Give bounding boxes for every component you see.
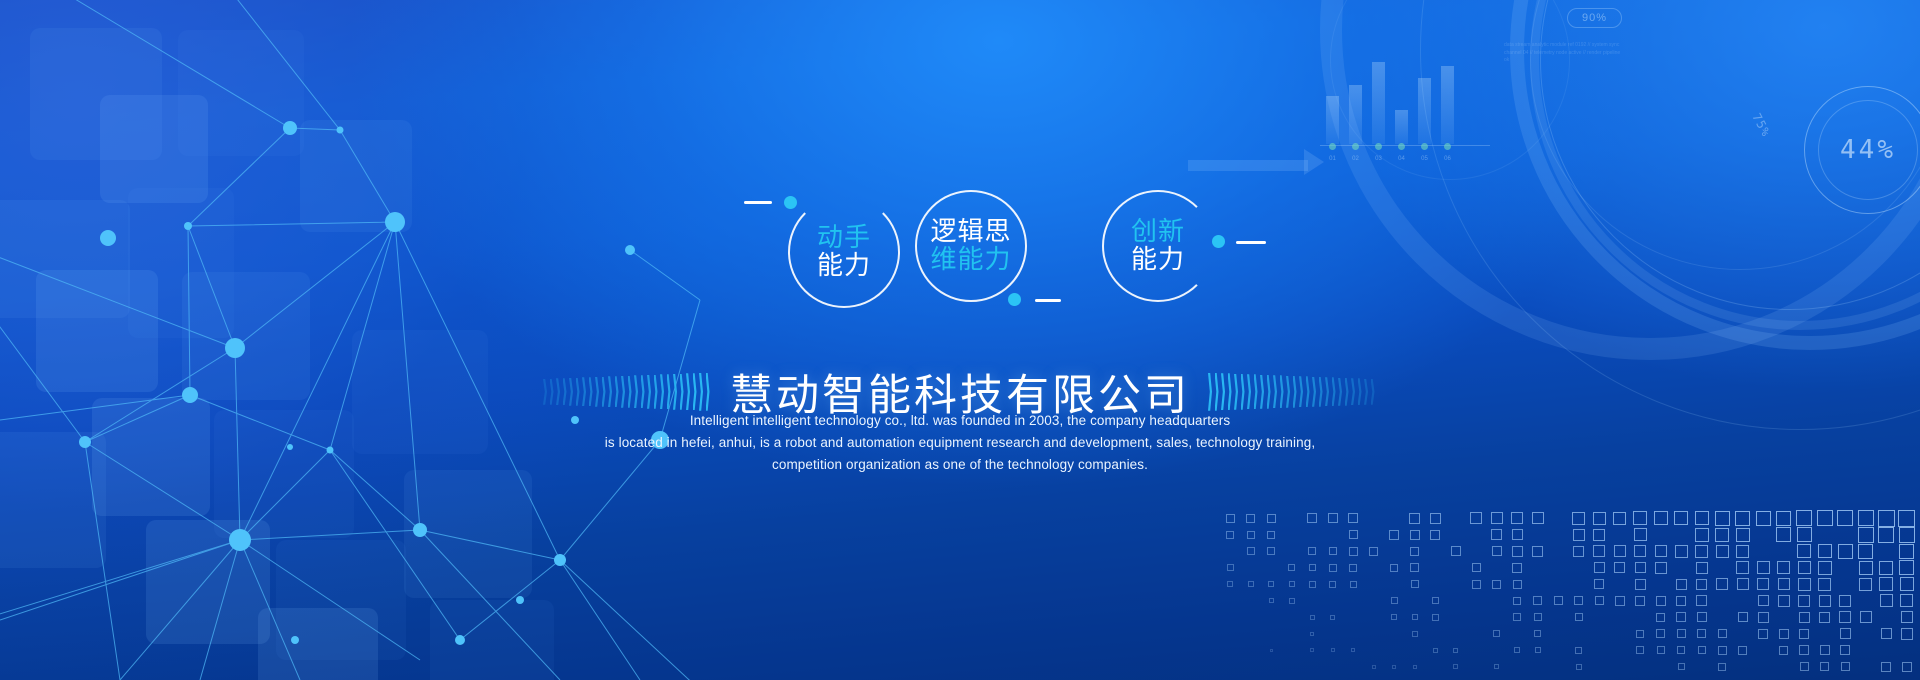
matrix-square: [1779, 646, 1788, 655]
matrix-square: [1573, 529, 1585, 541]
matrix-square: [1777, 561, 1790, 574]
matrix-square: [1270, 649, 1273, 652]
matrix-square: [1268, 581, 1274, 587]
matrix-square: [1350, 581, 1357, 588]
matrix-square: [1430, 530, 1440, 540]
matrix-square: [1716, 578, 1728, 590]
matrix-square: [1716, 545, 1729, 558]
matrix-square: [1614, 562, 1625, 573]
matrix-square: [1513, 597, 1521, 605]
chevron-bar: [1332, 377, 1336, 406]
matrix-square: [1636, 646, 1644, 654]
matrix-square: [1636, 630, 1644, 638]
matrix-square: [1798, 561, 1811, 574]
matrix-square: [1513, 580, 1522, 589]
chevron-bar: [550, 379, 554, 405]
matrix-square: [1758, 612, 1769, 623]
matrix-square: [1695, 545, 1708, 558]
matrix-square: [1776, 527, 1791, 542]
matrix-square: [1309, 564, 1316, 571]
chevron-bar: [680, 374, 684, 410]
matrix-square: [1472, 580, 1481, 589]
matrix-square: [1309, 581, 1316, 588]
matrix-square: [1839, 611, 1851, 623]
chevron-bar: [699, 373, 703, 411]
matrix-square: [1796, 510, 1812, 526]
chevron-bar: [582, 377, 586, 406]
chevron-bar: [615, 376, 619, 407]
right-accent-dash: [1236, 241, 1266, 244]
matrix-square: [1310, 615, 1315, 620]
chevron-bar: [1234, 374, 1238, 410]
matrix-square: [1879, 561, 1893, 575]
chevron-bar: [1221, 373, 1225, 410]
chevron-bar: [1215, 373, 1219, 411]
bar-chart-node-dot: [1352, 143, 1359, 150]
matrix-square: [1799, 612, 1810, 623]
matrix-square: [1859, 578, 1872, 591]
matrix-square: [1594, 562, 1605, 573]
matrix-square: [1858, 544, 1873, 559]
chevron-bar: [563, 378, 567, 405]
chevron-bar: [569, 378, 573, 406]
bar-chart-tick: 03: [1372, 156, 1385, 162]
intro-line-2: is located in hefei, anhui, is a robot a…: [0, 432, 1920, 454]
chevron-bar: [628, 376, 632, 408]
chevron-right-ornament: [1208, 369, 1377, 415]
matrix-square: [1593, 512, 1606, 525]
matrix-square: [1288, 564, 1295, 571]
matrix-square: [1392, 665, 1396, 669]
bar-chart-node-dot: [1329, 143, 1336, 150]
matrix-square: [1331, 648, 1335, 652]
bar-chart-tick: 04: [1395, 156, 1408, 162]
matrix-square: [1430, 513, 1441, 524]
chevron-bar: [1358, 378, 1362, 405]
matrix-square: [1432, 614, 1439, 621]
ability-circles: 动手 能力 逻辑思 维能力 创新 能力: [0, 0, 1920, 140]
matrix-square: [1677, 646, 1685, 654]
matrix-square: [1656, 596, 1666, 606]
chevron-bar: [1312, 377, 1316, 407]
matrix-square: [1776, 511, 1791, 526]
matrix-square: [1758, 595, 1769, 606]
matrix-square: [1839, 595, 1851, 607]
chevron-bar: [1306, 376, 1310, 407]
matrix-square: [1494, 664, 1499, 669]
chevron-bar: [1319, 377, 1323, 407]
chevron-bar: [1228, 373, 1232, 410]
matrix-square: [1492, 580, 1501, 589]
hero-content: 动手 能力 逻辑思 维能力 创新 能力: [0, 0, 1920, 140]
matrix-square: [1492, 546, 1502, 556]
chevron-bar: [1254, 374, 1258, 409]
matrix-square: [1800, 662, 1809, 671]
chevron-bar: [641, 375, 645, 408]
matrix-square: [1308, 547, 1316, 555]
matrix-square: [1512, 563, 1522, 573]
matrix-square: [1818, 544, 1832, 558]
matrix-square: [1738, 646, 1747, 655]
ability-circle-hands-on[interactable]: 动手 能力: [788, 196, 900, 308]
middle-accent-dash: [1035, 299, 1061, 302]
matrix-square: [1329, 547, 1337, 555]
chevron-bar: [1364, 379, 1368, 405]
chevron-bar: [1286, 376, 1290, 408]
matrix-square: [1718, 663, 1726, 671]
matrix-square: [1798, 595, 1810, 607]
matrix-square: [1756, 511, 1771, 526]
matrix-square: [1310, 648, 1314, 652]
chevron-bar: [1273, 375, 1277, 408]
chevron-bar: [1280, 375, 1284, 408]
chevron-bar: [595, 377, 599, 407]
matrix-square: [1472, 563, 1481, 572]
matrix-square: [1840, 628, 1851, 639]
matrix-square: [1554, 596, 1563, 605]
matrix-square: [1470, 512, 1482, 524]
matrix-square: [1676, 612, 1686, 622]
chevron-bar: [706, 373, 710, 411]
matrix-square: [1878, 510, 1895, 527]
matrix-square: [1391, 614, 1397, 620]
chevron-bar: [1247, 374, 1251, 409]
matrix-square: [1535, 647, 1541, 653]
chevron-bar: [686, 373, 690, 410]
bar-chart-tick: 05: [1418, 156, 1431, 162]
matrix-square: [1860, 611, 1872, 623]
matrix-square: [1735, 511, 1750, 526]
right-accent-dot: [1212, 235, 1225, 248]
matrix-square: [1635, 562, 1646, 573]
matrix-square: [1413, 665, 1417, 669]
matrix-square: [1247, 531, 1255, 539]
matrix-square: [1432, 597, 1439, 604]
matrix-square: [1798, 578, 1811, 591]
matrix-square: [1655, 562, 1667, 574]
matrix-square: [1512, 529, 1523, 540]
matrix-square: [1654, 511, 1668, 525]
bar-chart-tick: 01: [1326, 156, 1339, 162]
matrix-square: [1289, 581, 1295, 587]
chevron-bar: [693, 373, 697, 410]
chevron-bar: [1325, 377, 1329, 406]
square-matrix-graphic: [1220, 510, 1920, 680]
matrix-square: [1633, 511, 1647, 525]
matrix-square: [1840, 645, 1850, 655]
matrix-square: [1881, 662, 1891, 672]
ability-circle-line2: 维能力: [930, 244, 1011, 274]
chevron-bar: [608, 376, 612, 407]
matrix-square: [1227, 564, 1234, 571]
chevron-bar: [602, 377, 606, 407]
matrix-square: [1696, 579, 1707, 590]
matrix-square: [1330, 615, 1335, 620]
chevron-bar: [1208, 373, 1212, 411]
matrix-square: [1881, 628, 1892, 639]
matrix-square: [1677, 629, 1686, 638]
matrix-square: [1859, 561, 1873, 575]
matrix-square: [1389, 530, 1399, 540]
chevron-bar: [556, 378, 560, 405]
matrix-square: [1858, 527, 1874, 543]
chevron-bar: [1338, 378, 1342, 406]
matrix-square: [1593, 545, 1605, 557]
matrix-square: [1594, 579, 1604, 589]
matrix-square: [1778, 578, 1790, 590]
matrix-square: [1246, 514, 1255, 523]
matrix-square: [1736, 528, 1750, 542]
matrix-square: [1615, 596, 1625, 606]
matrix-square: [1372, 665, 1376, 669]
matrix-square: [1453, 648, 1458, 653]
bar-chart-node-dot: [1398, 143, 1405, 150]
ability-circle-line2: 能力: [1131, 244, 1185, 274]
chevron-bar: [543, 379, 547, 405]
matrix-square: [1493, 630, 1500, 637]
matrix-square: [1410, 530, 1420, 540]
matrix-square: [1593, 529, 1605, 541]
matrix-square: [1634, 545, 1646, 557]
chevron-bar: [660, 374, 664, 409]
chevron-bar: [576, 378, 580, 406]
matrix-square: [1329, 581, 1336, 588]
matrix-square: [1674, 511, 1688, 525]
matrix-square: [1349, 547, 1358, 556]
bar-chart-tick: 06: [1441, 156, 1454, 162]
matrix-square: [1698, 646, 1706, 654]
intro-line-3: competition organization as one of the t…: [0, 454, 1920, 476]
matrix-square: [1899, 560, 1914, 575]
chevron-bar: [1293, 376, 1297, 408]
matrix-square: [1310, 632, 1314, 636]
chevron-bar: [1267, 375, 1271, 409]
matrix-square: [1328, 513, 1338, 523]
matrix-square: [1738, 612, 1748, 622]
bar-chart-axis: [1320, 145, 1490, 146]
ability-circle-line2: 能力: [817, 250, 871, 280]
matrix-square: [1412, 614, 1418, 620]
chevron-bar: [1260, 375, 1264, 409]
matrix-square: [1491, 529, 1502, 540]
chevron-bar: [1299, 376, 1303, 407]
matrix-square: [1532, 512, 1544, 524]
matrix-square: [1226, 514, 1235, 523]
matrix-square: [1820, 645, 1830, 655]
matrix-square: [1514, 647, 1520, 653]
ability-circle-line1: 逻辑思: [930, 216, 1011, 246]
matrix-square: [1575, 647, 1582, 654]
matrix-square: [1269, 598, 1274, 603]
matrix-square: [1778, 595, 1790, 607]
matrix-square: [1797, 544, 1811, 558]
matrix-square: [1247, 547, 1255, 555]
matrix-square: [1226, 531, 1234, 539]
matrix-square: [1614, 545, 1626, 557]
matrix-square: [1901, 611, 1913, 623]
matrix-square: [1635, 596, 1645, 606]
chevron-bar: [1345, 378, 1349, 406]
matrix-square: [1491, 512, 1503, 524]
matrix-square: [1572, 512, 1585, 525]
left-accent-dot: [784, 196, 797, 209]
ability-circle-line1: 创新: [1131, 216, 1185, 246]
matrix-square: [1797, 527, 1812, 542]
ability-circle-line1: 动手: [817, 222, 871, 252]
bar-chart-node-dot: [1375, 143, 1382, 150]
chevron-bar: [1241, 374, 1245, 410]
matrix-square: [1512, 546, 1523, 557]
matrix-square: [1573, 546, 1584, 557]
matrix-square: [1697, 629, 1706, 638]
matrix-square: [1817, 510, 1833, 526]
bar-chart-tick-labels: 010203040506: [1320, 156, 1490, 162]
bar-chart-node-dot: [1421, 143, 1428, 150]
matrix-square: [1227, 581, 1233, 587]
matrix-square: [1411, 580, 1419, 588]
bar-chart-tick: 02: [1349, 156, 1362, 162]
matrix-square: [1267, 531, 1275, 539]
chevron-bar: [673, 374, 677, 410]
matrix-square: [1736, 561, 1749, 574]
matrix-square: [1613, 512, 1626, 525]
matrix-square: [1678, 663, 1685, 670]
matrix-square: [1574, 596, 1583, 605]
matrix-square: [1878, 527, 1894, 543]
matrix-square: [1575, 613, 1583, 621]
matrix-square: [1412, 631, 1418, 637]
matrix-square: [1675, 545, 1688, 558]
matrix-square: [1676, 579, 1687, 590]
matrix-square: [1534, 630, 1541, 637]
matrix-square: [1718, 646, 1727, 655]
matrix-square: [1267, 514, 1276, 523]
matrix-square: [1818, 578, 1831, 591]
bar-chart-node-dot: [1444, 143, 1451, 150]
chevron-bar: [1371, 379, 1375, 405]
matrix-square: [1451, 546, 1461, 556]
matrix-square: [1858, 510, 1874, 526]
matrix-square: [1900, 577, 1914, 591]
matrix-square: [1533, 596, 1542, 605]
matrix-square: [1819, 595, 1831, 607]
matrix-square: [1349, 564, 1357, 572]
matrix-square: [1757, 561, 1770, 574]
chevron-bar: [654, 375, 658, 409]
matrix-square: [1307, 513, 1317, 523]
matrix-square: [1655, 545, 1667, 557]
matrix-square: [1595, 596, 1604, 605]
matrix-square: [1349, 530, 1358, 539]
matrix-square: [1289, 598, 1295, 604]
ability-circle-logical-thinking[interactable]: 逻辑思 维能力: [915, 190, 1027, 302]
matrix-square: [1899, 544, 1914, 559]
matrix-square: [1369, 547, 1378, 556]
matrix-square: [1676, 596, 1686, 606]
matrix-square: [1351, 648, 1355, 652]
matrix-square: [1838, 544, 1853, 559]
matrix-square: [1390, 564, 1398, 572]
matrix-square: [1410, 547, 1419, 556]
matrix-square: [1901, 628, 1913, 640]
matrix-square: [1695, 528, 1709, 542]
matrix-square: [1248, 581, 1254, 587]
matrix-square: [1880, 594, 1893, 607]
matrix-square: [1410, 563, 1419, 572]
intro-line-1: Intelligent intelligent technology co., …: [0, 410, 1920, 432]
matrix-square: [1818, 561, 1832, 575]
chevron-left-ornament: [543, 369, 712, 415]
chevron-bar: [667, 374, 671, 409]
company-intro: Intelligent intelligent technology co., …: [0, 410, 1920, 476]
matrix-square: [1779, 629, 1789, 639]
matrix-square: [1715, 528, 1729, 542]
matrix-square: [1736, 545, 1749, 558]
matrix-square: [1696, 562, 1708, 574]
chevron-bar: [1351, 378, 1355, 405]
matrix-square: [1656, 629, 1665, 638]
matrix-square: [1329, 564, 1337, 572]
hero-banner: 44% 75% 90% data stream analytic module …: [0, 0, 1920, 680]
matrix-square: [1837, 510, 1853, 526]
matrix-square: [1697, 612, 1707, 622]
chevron-bar: [634, 375, 638, 408]
matrix-square: [1902, 662, 1912, 672]
matrix-square: [1634, 528, 1647, 541]
matrix-square: [1511, 512, 1523, 524]
matrix-square: [1657, 646, 1665, 654]
matrix-square: [1799, 629, 1809, 639]
matrix-square: [1737, 578, 1749, 590]
matrix-square: [1534, 613, 1542, 621]
matrix-square: [1532, 546, 1543, 557]
matrix-square: [1635, 579, 1646, 590]
left-accent-dash: [744, 201, 772, 204]
matrix-square: [1879, 577, 1893, 591]
matrix-square: [1758, 629, 1768, 639]
matrix-square: [1820, 662, 1829, 671]
matrix-square: [1819, 612, 1830, 623]
ability-circle-innovation[interactable]: 创新 能力: [1102, 190, 1214, 302]
matrix-square: [1267, 547, 1275, 555]
chevron-bar: [621, 376, 625, 408]
matrix-square: [1513, 613, 1521, 621]
matrix-square: [1348, 513, 1358, 523]
chevron-bar: [647, 375, 651, 409]
matrix-square: [1841, 662, 1850, 671]
matrix-square: [1656, 613, 1665, 622]
matrix-square: [1453, 664, 1458, 669]
matrix-square: [1391, 597, 1398, 604]
middle-accent-dot: [1008, 293, 1021, 306]
matrix-square: [1409, 513, 1420, 524]
matrix-square: [1899, 527, 1915, 543]
matrix-square: [1696, 595, 1707, 606]
matrix-square: [1576, 664, 1582, 670]
matrix-square: [1757, 578, 1769, 590]
matrix-square: [1900, 594, 1913, 607]
matrix-square: [1715, 511, 1730, 526]
chevron-bar: [589, 377, 593, 406]
matrix-square: [1898, 510, 1915, 527]
matrix-square: [1433, 648, 1438, 653]
matrix-square: [1799, 645, 1809, 655]
matrix-square: [1695, 511, 1709, 525]
matrix-square: [1718, 629, 1727, 638]
